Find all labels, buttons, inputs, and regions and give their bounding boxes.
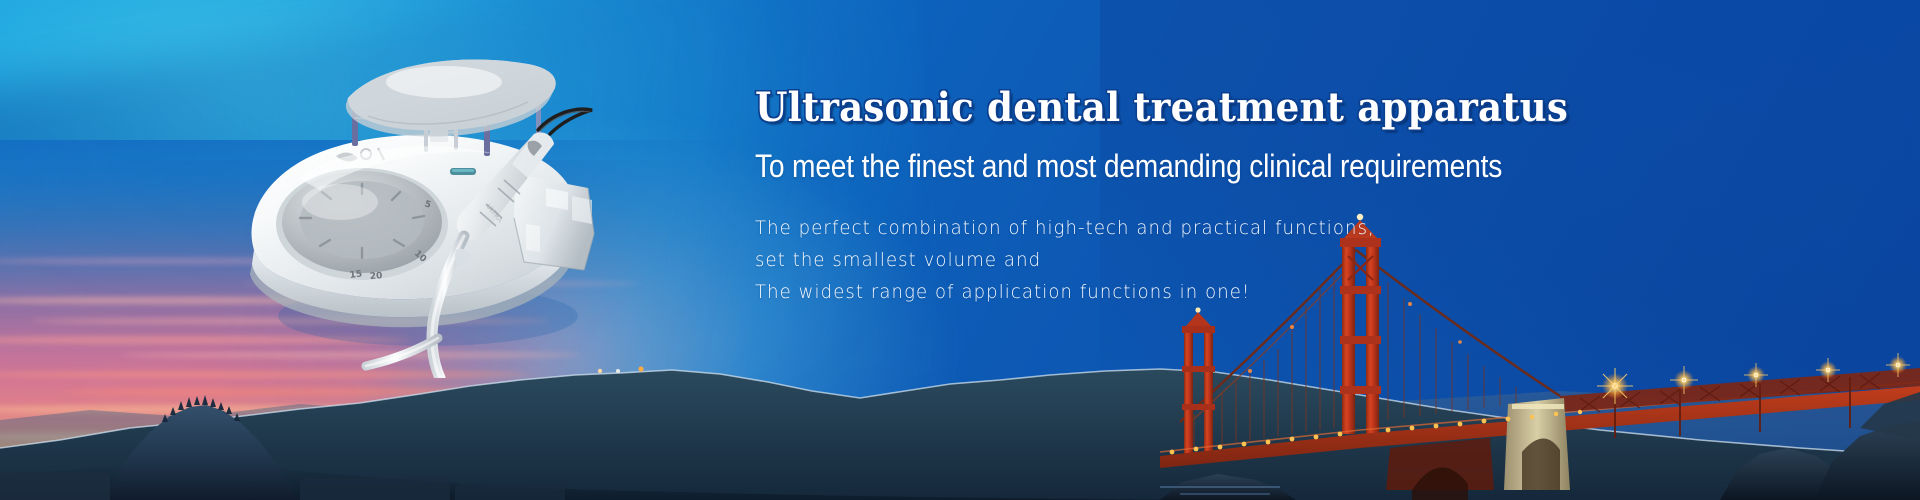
bridge-pier bbox=[1504, 398, 1570, 490]
banner-body-copy: The perfect combination of high-tech and… bbox=[755, 212, 1855, 308]
instrument-tray bbox=[514, 174, 594, 270]
canopy-cover bbox=[346, 59, 556, 136]
banner-copy: Ultrasonic dental treatment apparatus To… bbox=[755, 88, 1855, 308]
promo-banner: 5 10 15 20 bbox=[0, 0, 1920, 500]
bridge-tower-far bbox=[1182, 307, 1215, 454]
svg-text:15: 15 bbox=[349, 269, 363, 281]
scaler-tip bbox=[538, 109, 592, 134]
body-line-1: The perfect combination of high-tech and… bbox=[755, 212, 1800, 244]
bridge-arch-left bbox=[1386, 438, 1494, 500]
banner-subheadline: To meet the finest and most demanding cl… bbox=[755, 150, 1723, 184]
banner-headline: Ultrasonic dental treatment apparatus bbox=[755, 88, 1778, 128]
svg-text:20: 20 bbox=[370, 271, 383, 282]
product-image: 5 10 15 20 bbox=[228, 38, 648, 378]
rocky-knoll-left bbox=[94, 380, 304, 500]
body-line-3: The widest range of application function… bbox=[755, 276, 1800, 308]
body-line-2: set the smallest volume and bbox=[755, 244, 1800, 276]
